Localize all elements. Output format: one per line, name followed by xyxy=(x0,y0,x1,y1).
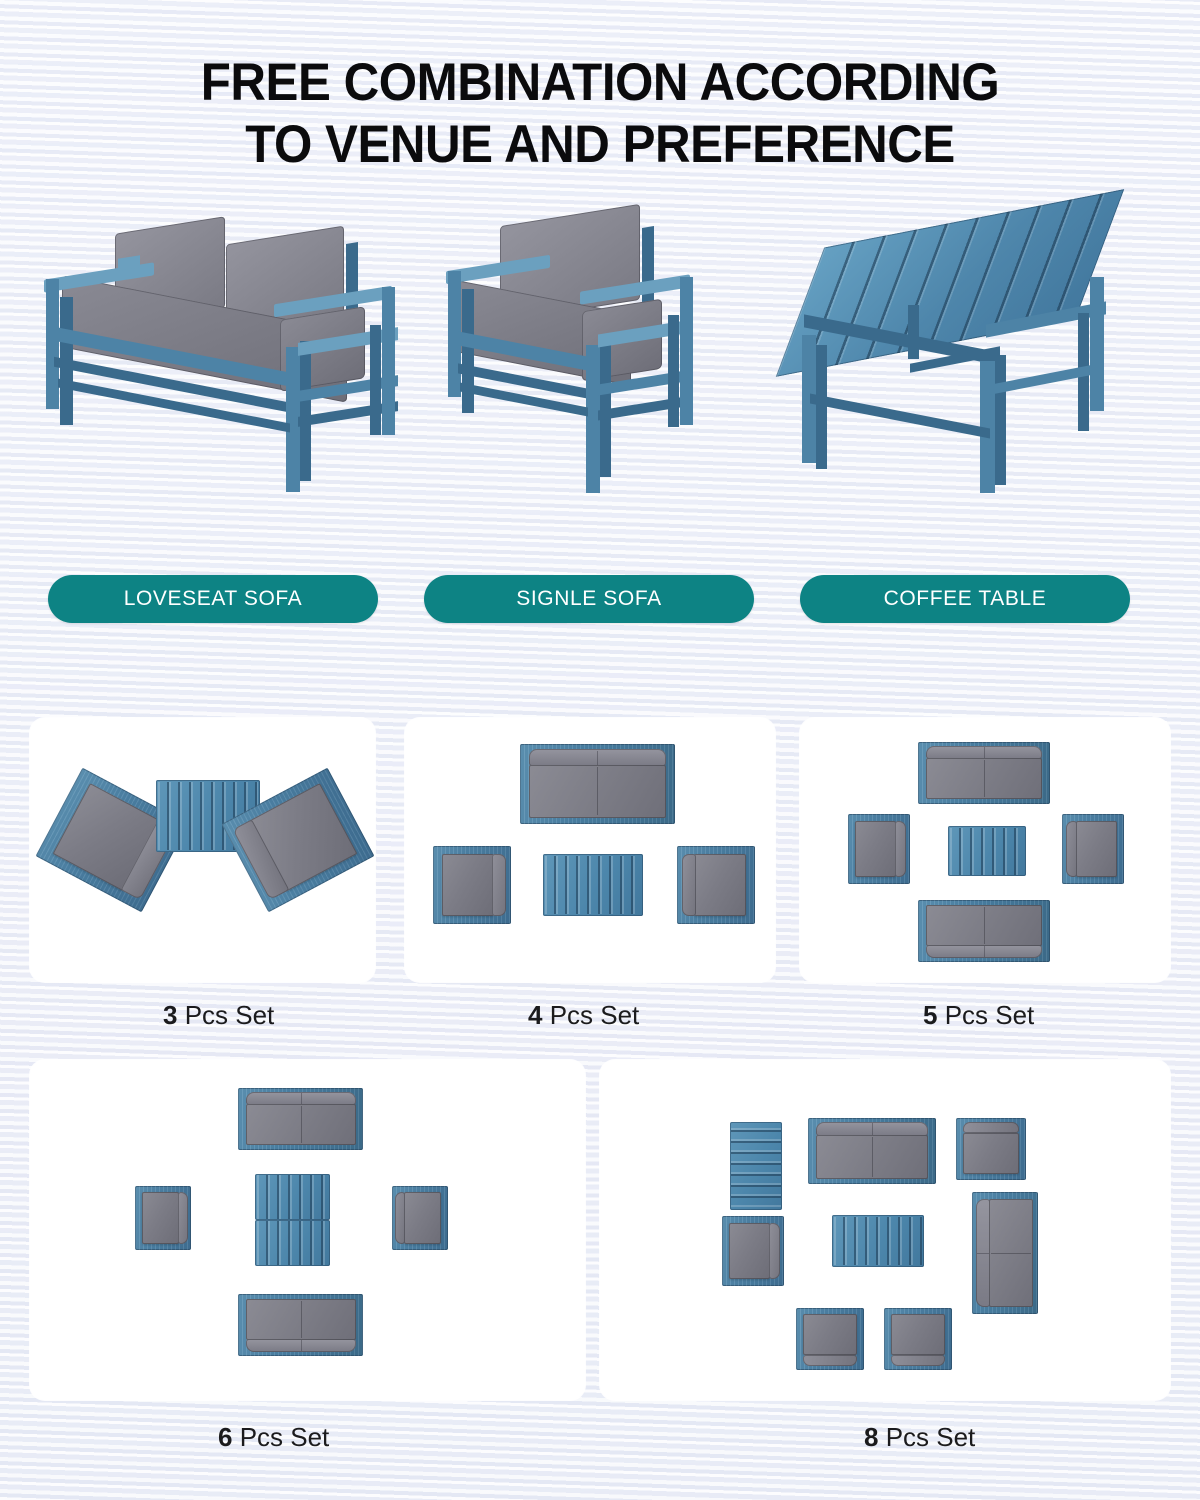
hero-item-loveseat-sofa xyxy=(30,205,410,550)
set-label-5-pcs: 5 Pcs Set xyxy=(923,1000,1034,1031)
page-title: FREE COMBINATION ACCORDING TO VENUE AND … xyxy=(42,52,1158,176)
set-count-5: 5 xyxy=(923,1000,937,1030)
loveseat-sofa-plan xyxy=(238,1088,363,1150)
coffee-table-icon xyxy=(790,205,1130,550)
set-card-8-pcs[interactable] xyxy=(600,1060,1170,1400)
loveseat-sofa-plan xyxy=(238,1294,363,1356)
loveseat-sofa-plan xyxy=(520,744,675,824)
set-label-8-pcs: 8 Pcs Set xyxy=(864,1422,975,1453)
set-label-3-pcs: 3 Pcs Set xyxy=(163,1000,274,1031)
loveseat-sofa-plan xyxy=(808,1118,936,1184)
set-count-6: 6 xyxy=(218,1422,232,1452)
pill-single-sofa[interactable]: SIGNLE SOFA xyxy=(424,575,754,623)
single-sofa-plan xyxy=(1062,814,1124,884)
pill-coffee-table[interactable]: COFFEE TABLE xyxy=(800,575,1130,623)
set-card-4-pcs[interactable] xyxy=(405,718,775,982)
coffee-table-plan xyxy=(948,826,1026,876)
set-card-3-pcs[interactable] xyxy=(30,718,375,982)
single-sofa-plan xyxy=(848,814,910,884)
hero-item-coffee-table xyxy=(790,205,1130,550)
single-sofa-plan xyxy=(884,1308,952,1370)
set-suffix-8: Pcs Set xyxy=(878,1422,975,1452)
coffee-table-plan xyxy=(832,1215,924,1267)
pill-loveseat-sofa-label: LOVESEAT SOFA xyxy=(124,587,303,611)
set-card-5-pcs[interactable] xyxy=(800,718,1170,982)
set-suffix-3: Pcs Set xyxy=(177,1000,274,1030)
single-sofa-plan xyxy=(956,1118,1026,1180)
hero-product-row xyxy=(0,205,1200,550)
loveseat-sofa-plan xyxy=(918,900,1050,962)
coffee-table-plan xyxy=(255,1220,330,1266)
coffee-table-plan xyxy=(255,1174,330,1220)
single-sofa-plan xyxy=(392,1186,448,1250)
loveseat-sofa-icon xyxy=(30,205,410,550)
set-count-8: 8 xyxy=(864,1422,878,1452)
set-count-4: 4 xyxy=(528,1000,542,1030)
loveseat-sofa-plan xyxy=(918,742,1050,804)
pill-single-sofa-label: SIGNLE SOFA xyxy=(516,587,661,611)
set-card-6-pcs[interactable] xyxy=(30,1060,585,1400)
single-sofa-icon xyxy=(440,205,760,550)
pill-loveseat-sofa[interactable]: LOVESEAT SOFA xyxy=(48,575,378,623)
set-suffix-5: Pcs Set xyxy=(937,1000,1034,1030)
loveseat-sofa-plan xyxy=(972,1192,1038,1314)
single-sofa-plan xyxy=(796,1308,864,1370)
set-suffix-4: Pcs Set xyxy=(542,1000,639,1030)
set-label-6-pcs: 6 Pcs Set xyxy=(218,1422,329,1453)
single-sofa-plan xyxy=(722,1216,784,1286)
hero-item-single-sofa xyxy=(440,205,760,550)
coffee-table-plan xyxy=(730,1122,782,1210)
single-sofa-plan xyxy=(677,846,755,924)
infographic-page: FREE COMBINATION ACCORDING TO VENUE AND … xyxy=(0,0,1200,1500)
single-sofa-plan xyxy=(433,846,511,924)
set-suffix-6: Pcs Set xyxy=(232,1422,329,1452)
set-count-3: 3 xyxy=(163,1000,177,1030)
coffee-table-plan xyxy=(543,854,643,916)
single-sofa-plan xyxy=(135,1186,191,1250)
pill-coffee-table-label: COFFEE TABLE xyxy=(884,587,1047,611)
set-label-4-pcs: 4 Pcs Set xyxy=(528,1000,639,1031)
